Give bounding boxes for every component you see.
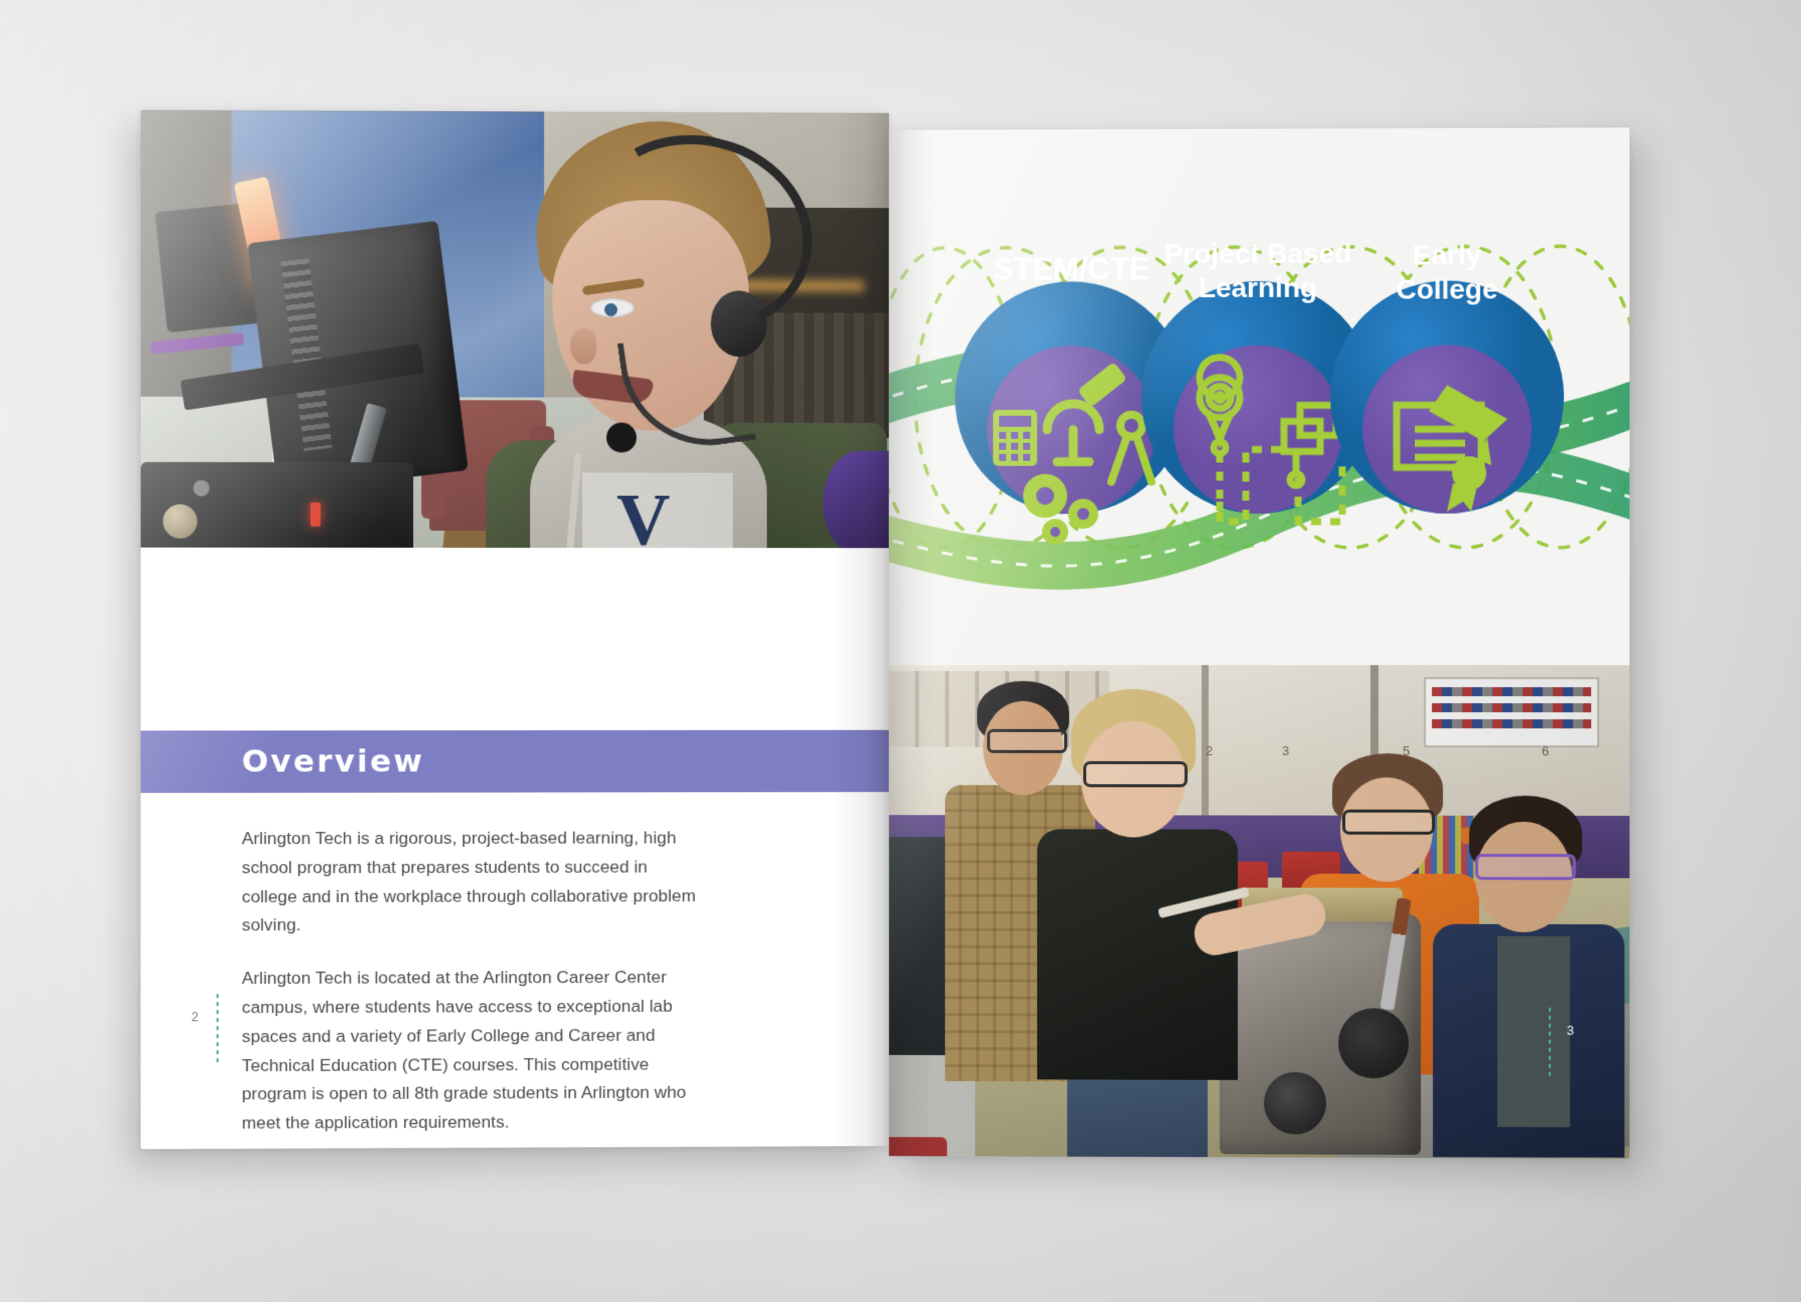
left-page: V Overview Arlington Tech is a rigoro <box>141 110 889 1149</box>
overview-paragraph-2: Arlington Tech is located at the Arlingt… <box>242 963 700 1138</box>
folio-left: 2 <box>191 1009 198 1024</box>
node-early-college: Early College <box>1330 239 1564 513</box>
section-title-band: Overview <box>141 730 889 793</box>
node-label-stem-cte: STEM/CTE <box>993 251 1150 286</box>
folio-rule-right <box>1549 1008 1551 1078</box>
right-page: STEM/CTE <box>889 127 1630 1158</box>
infographic-three-pillars: STEM/CTE <box>889 127 1630 665</box>
node-label-early-line1: Early <box>1413 239 1482 270</box>
overview-body-copy: Arlington Tech is a rigorous, project-ba… <box>242 823 700 1149</box>
node-label-pbl-line2: Learning <box>1199 272 1318 303</box>
page-title: Overview <box>141 730 889 793</box>
shop-photo-automotive: 2 3 5 6 <box>889 665 1630 1159</box>
hero-photo-studio: V <box>141 110 889 548</box>
brochure-spread: V Overview Arlington Tech is a rigoro <box>0 0 1801 1302</box>
overview-paragraph-1: Arlington Tech is a rigorous, project-ba… <box>242 823 700 940</box>
node-label-pbl-line1: Project Based <box>1164 238 1352 270</box>
folio-right: 3 <box>1567 1023 1574 1038</box>
node-label-early-line2: College <box>1396 273 1498 304</box>
folio-rule-left <box>217 994 219 1064</box>
calculator-icon <box>993 410 1037 466</box>
